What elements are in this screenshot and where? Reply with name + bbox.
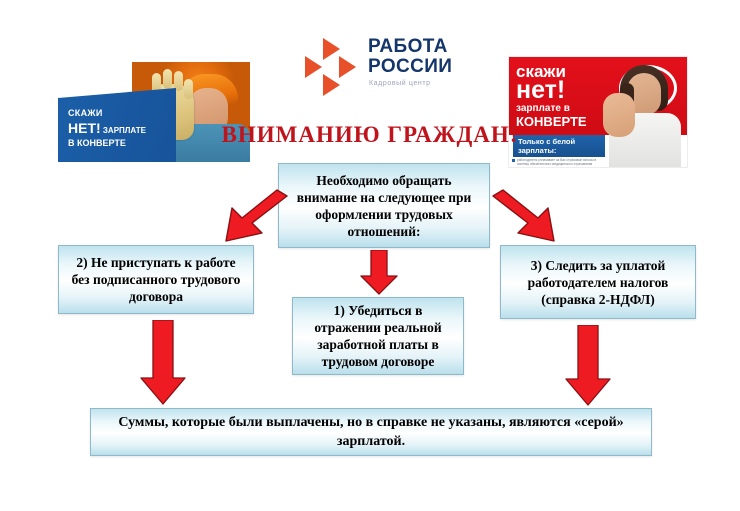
arrow-down-left-icon	[190, 186, 290, 252]
banner-right: скажи нет! зарплате в КОНВЕРТЕ Только с …	[508, 56, 688, 168]
flow-box-item-1-text: 1) Убедиться в отражении реальной зарабо…	[293, 302, 463, 370]
infographic-canvas: СКАЖИ НЕТ! ЗАРПЛАТЕ В КОНВЕРТЕ РАБОТА РО…	[0, 0, 740, 511]
logo-tagline: Кадровый центр	[369, 80, 431, 87]
arrow-down-long-left-icon	[137, 320, 189, 406]
banner-left-line1: СКАЖИ	[68, 108, 103, 118]
arrow-down-icon	[358, 250, 400, 296]
logo-triangle-left	[305, 56, 322, 78]
logo-triangle-top	[323, 38, 340, 60]
banner-right-line2: нет!	[516, 78, 565, 103]
banner-right-line3: зарплате в	[516, 103, 570, 114]
flow-box-item-2-text: 2) Не приступать к работе без подписанно…	[59, 254, 253, 305]
flow-box-conclusion: Суммы, которые были выплачены, но в спра…	[90, 408, 652, 456]
flow-box-conclusion-text: Суммы, которые были выплачены, но в спра…	[91, 413, 651, 451]
page-title: ВНИМАНИЮ ГРАЖДАН!	[0, 122, 740, 148]
logo: РАБОТА РОССИИ Кадровый центр	[305, 36, 475, 98]
flow-box-intro: Необходимо обращать внимание на следующе…	[278, 163, 490, 248]
flow-box-item-2: 2) Не приступать к работе без подписанно…	[58, 245, 254, 314]
logo-triangle-bottom	[323, 74, 340, 96]
banner-right-bullet-1: работодатель уплачивает за Вас страховые…	[517, 158, 603, 166]
arrow-down-right-icon	[490, 186, 590, 252]
flow-box-item-3-text: 3) Следить за уплатой работодателем нало…	[501, 257, 695, 308]
arrow-down-long-right-icon	[562, 325, 614, 407]
logo-line1: РАБОТА	[368, 36, 448, 58]
flow-box-item-1: 1) Убедиться в отражении реальной зарабо…	[292, 297, 464, 375]
flow-box-intro-text: Необходимо обращать внимание на следующе…	[279, 172, 489, 240]
logo-triangle-right	[339, 56, 356, 78]
flow-box-item-3: 3) Следить за уплатой работодателем нало…	[500, 245, 696, 319]
banner-right-photo	[601, 57, 687, 167]
logo-line2: РОССИИ	[368, 56, 452, 78]
